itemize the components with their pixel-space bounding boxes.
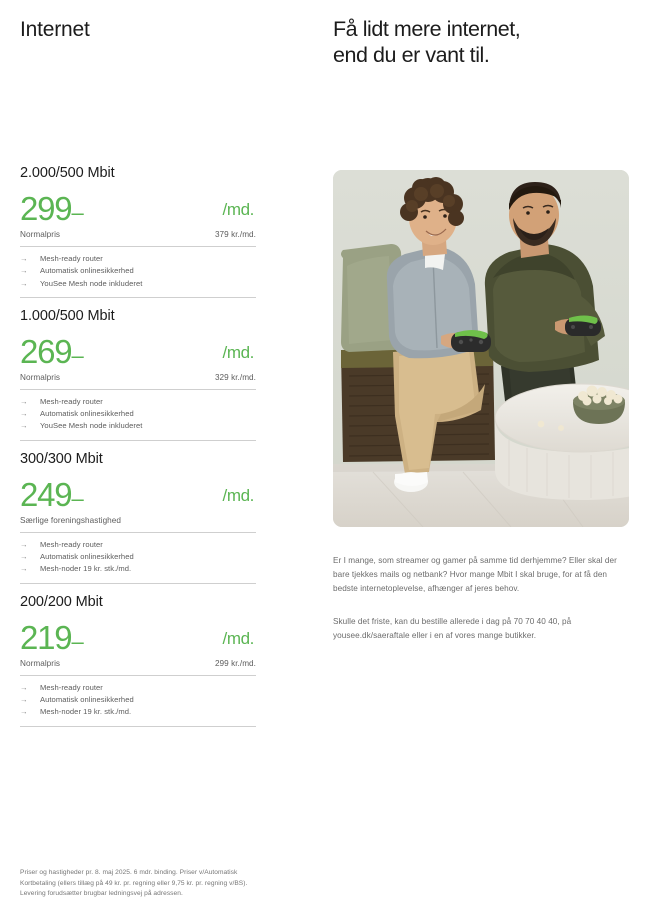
body-paragraph-2: Skulle det friste, kan du bestille aller… xyxy=(333,615,633,643)
arrow-right-icon: → xyxy=(20,396,40,408)
plan-divider-bottom xyxy=(20,583,256,584)
plan-price-row: 219–/md. xyxy=(20,614,256,652)
headline-line-2: end du er vant til. xyxy=(333,43,489,67)
plan-feature-list: →Mesh-ready router→Automatisk onlinesikk… xyxy=(20,533,256,583)
plan-note-row: Normalpris299 kr./md. xyxy=(20,659,256,675)
plan-feature-label: Mesh-ready router xyxy=(40,539,103,551)
plan-speed-label: 300/300 Mbit xyxy=(20,451,256,467)
plan-feature-item: →Automatisk onlinesikkerhed xyxy=(20,551,256,563)
body-paragraph-1: Er I mange, som streamer og gamer på sam… xyxy=(333,554,633,595)
plan-note-row: Normalpris379 kr./md. xyxy=(20,230,256,246)
arrow-right-icon: → xyxy=(20,408,40,420)
plan-feature-label: Mesh-ready router xyxy=(40,253,103,265)
plan-feature-label: Automatisk onlinesikkerhed xyxy=(40,408,134,420)
plan-note-row: Særlige foreningshastighed xyxy=(20,516,256,532)
plan-feature-label: Mesh-ready router xyxy=(40,682,103,694)
plan-note-value: 299 kr./md. xyxy=(215,659,256,668)
plan-price-period: /md. xyxy=(223,343,256,363)
page-title: Internet xyxy=(20,18,90,42)
plan-feature-list: →Mesh-ready router→Automatisk onlinesikk… xyxy=(20,390,256,440)
plan-feature-label: YouSee Mesh node inkluderet xyxy=(40,278,142,290)
body-copy: Er I mange, som streamer og gamer på sam… xyxy=(333,554,633,643)
plan-divider-bottom xyxy=(20,440,256,441)
plan-price: 249– xyxy=(20,478,83,511)
plan-feature-item: →Automatisk onlinesikkerhed xyxy=(20,694,256,706)
plan-price-dash: – xyxy=(71,486,82,511)
plan-feature-item: →Mesh-ready router xyxy=(20,253,256,265)
plan-note-label: Normalpris xyxy=(20,230,60,239)
plan-divider-bottom xyxy=(20,297,256,298)
plan-card[interactable]: 2.000/500 Mbit299–/md.Normalpris379 kr./… xyxy=(20,165,256,298)
plan-note-label: Særlige foreningshastighed xyxy=(20,516,121,525)
plan-card[interactable]: 1.000/500 Mbit269–/md.Normalpris329 kr./… xyxy=(20,308,256,441)
hero-image-illustration xyxy=(333,170,629,527)
arrow-right-icon: → xyxy=(20,278,40,290)
plan-card[interactable]: 200/200 Mbit219–/md.Normalpris299 kr./md… xyxy=(20,594,256,727)
arrow-right-icon: → xyxy=(20,265,40,277)
plan-speed-label: 200/200 Mbit xyxy=(20,594,256,610)
plan-note-value: 329 kr./md. xyxy=(215,373,256,382)
arrow-right-icon: → xyxy=(20,682,40,694)
plan-price-period: /md. xyxy=(223,486,256,506)
left-column: Internet 2.000/500 Mbit299–/md.Normalpri… xyxy=(20,0,280,920)
plan-feature-label: Automatisk onlinesikkerhed xyxy=(40,265,134,277)
plan-speed-label: 2.000/500 Mbit xyxy=(20,165,256,181)
plan-price-period: /md. xyxy=(223,200,256,220)
arrow-right-icon: → xyxy=(20,694,40,706)
arrow-right-icon: → xyxy=(20,551,40,563)
plan-feature-label: Mesh-ready router xyxy=(40,396,103,408)
plan-note-row: Normalpris329 kr./md. xyxy=(20,373,256,389)
plan-feature-label: Automatisk onlinesikkerhed xyxy=(40,551,134,563)
plan-note-label: Normalpris xyxy=(20,373,60,382)
plan-price-number: 299 xyxy=(20,190,71,227)
plan-feature-item: →Mesh-ready router xyxy=(20,539,256,551)
plan-feature-item: →Automatisk onlinesikkerhed xyxy=(20,408,256,420)
plan-list: 2.000/500 Mbit299–/md.Normalpris379 kr./… xyxy=(20,165,256,737)
plan-feature-item: →Mesh-ready router xyxy=(20,396,256,408)
plan-feature-list: →Mesh-ready router→Automatisk onlinesikk… xyxy=(20,676,256,726)
plan-note-label: Normalpris xyxy=(20,659,60,668)
plan-feature-item: →Mesh-noder 19 kr. stk./md. xyxy=(20,563,256,575)
plan-price-dash: – xyxy=(71,200,82,225)
plan-feature-label: YouSee Mesh node inkluderet xyxy=(40,420,142,432)
plan-price-dash: – xyxy=(71,629,82,654)
page-headline: Få lidt mere internet, end du er vant ti… xyxy=(333,16,633,68)
plan-price: 299– xyxy=(20,192,83,225)
arrow-right-icon: → xyxy=(20,420,40,432)
plan-card[interactable]: 300/300 Mbit249–/md.Særlige foreningshas… xyxy=(20,451,256,584)
internet-pricing-page: Internet 2.000/500 Mbit299–/md.Normalpri… xyxy=(0,0,651,920)
plan-price-dash: – xyxy=(71,343,82,368)
plan-price-period: /md. xyxy=(223,629,256,649)
plan-price-row: 249–/md. xyxy=(20,471,256,509)
plan-price-row: 299–/md. xyxy=(20,185,256,223)
plan-feature-label: Mesh-noder 19 kr. stk./md. xyxy=(40,706,131,718)
plan-note-value: 379 kr./md. xyxy=(215,230,256,239)
headline-line-1: Få lidt mere internet, xyxy=(333,17,520,41)
hero-image xyxy=(333,170,629,527)
plan-price: 269– xyxy=(20,335,83,368)
plan-feature-item: →Mesh-ready router xyxy=(20,682,256,694)
arrow-right-icon: → xyxy=(20,539,40,551)
plan-price-number: 249 xyxy=(20,476,71,513)
plan-divider-bottom xyxy=(20,726,256,727)
plan-feature-list: →Mesh-ready router→Automatisk onlinesikk… xyxy=(20,247,256,297)
plan-price-row: 269–/md. xyxy=(20,328,256,366)
plan-feature-label: Automatisk onlinesikkerhed xyxy=(40,694,134,706)
arrow-right-icon: → xyxy=(20,253,40,265)
arrow-right-icon: → xyxy=(20,563,40,575)
plan-feature-item: →YouSee Mesh node inkluderet xyxy=(20,420,256,432)
plan-feature-item: →Automatisk onlinesikkerhed xyxy=(20,265,256,277)
plan-speed-label: 1.000/500 Mbit xyxy=(20,308,256,324)
plan-feature-label: Mesh-noder 19 kr. stk./md. xyxy=(40,563,131,575)
plan-price-number: 269 xyxy=(20,333,71,370)
arrow-right-icon: → xyxy=(20,706,40,718)
plan-price-number: 219 xyxy=(20,619,71,656)
plan-feature-item: →YouSee Mesh node inkluderet xyxy=(20,278,256,290)
fineprint-disclaimer: Priser og hastigheder pr. 8. maj 2025. 6… xyxy=(20,868,260,900)
plan-feature-item: →Mesh-noder 19 kr. stk./md. xyxy=(20,706,256,718)
plan-price: 219– xyxy=(20,621,83,654)
